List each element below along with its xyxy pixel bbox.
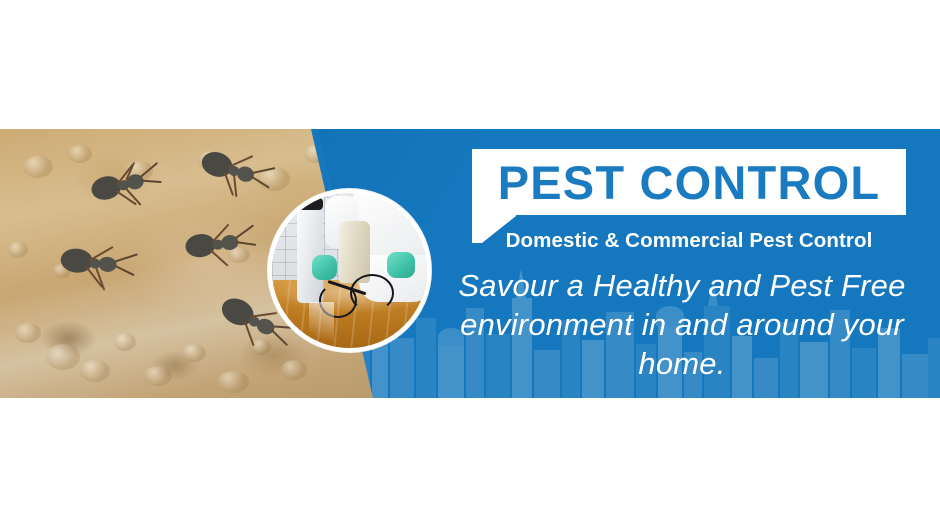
ant-3 [58, 243, 140, 295]
pest-control-technician-photo [272, 193, 427, 348]
banner-tagline: Savour a Healthy and Pest Free environme… [440, 266, 924, 383]
technician-circle-frame [268, 189, 431, 352]
page-title: PEST CONTROL [472, 149, 906, 215]
glove-left [312, 255, 337, 280]
spray-mist [309, 302, 334, 349]
title-banner: PEST CONTROL [472, 149, 906, 215]
banner-stage: PEST CONTROL Domestic & Commercial Pest … [0, 0, 940, 529]
chemical-tank [339, 221, 370, 283]
banner-subtitle: Domestic & Commercial Pest Control [472, 229, 906, 253]
sprayer-cap [297, 198, 323, 210]
glove-right [387, 252, 415, 278]
hose-loop [350, 274, 394, 312]
pest-control-banner: PEST CONTROL Domestic & Commercial Pest … [0, 129, 940, 398]
